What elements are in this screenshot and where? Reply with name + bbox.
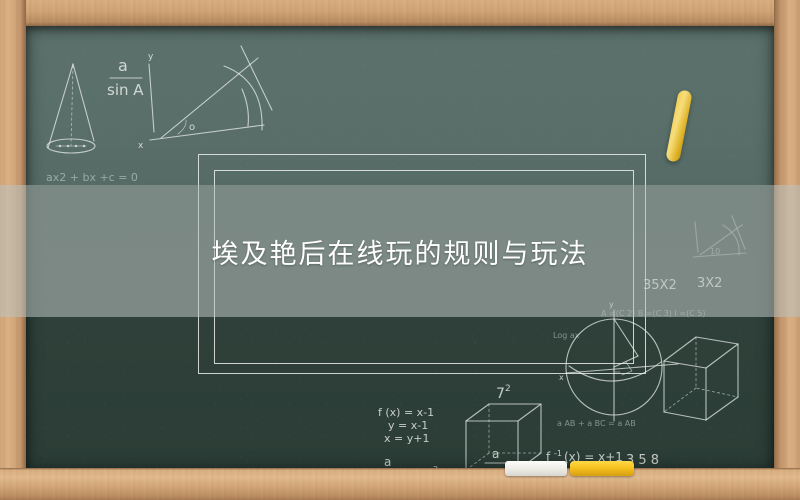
wood-grain-ledge [0, 468, 800, 500]
page-title: 埃及艳后在线玩的规则与玩法 [212, 232, 589, 271]
blackboard-title-card: a sin A ax2 + bx +c = 0 y x o [0, 0, 800, 500]
chalk-tray-ledge [0, 468, 800, 500]
yellow-chalk-tray [570, 461, 634, 476]
eraser [505, 461, 567, 476]
wood-grain-top [0, 0, 800, 26]
frame-top-rail [0, 0, 800, 26]
title-banner: 埃及艳后在线玩的规则与玩法 [0, 185, 800, 317]
